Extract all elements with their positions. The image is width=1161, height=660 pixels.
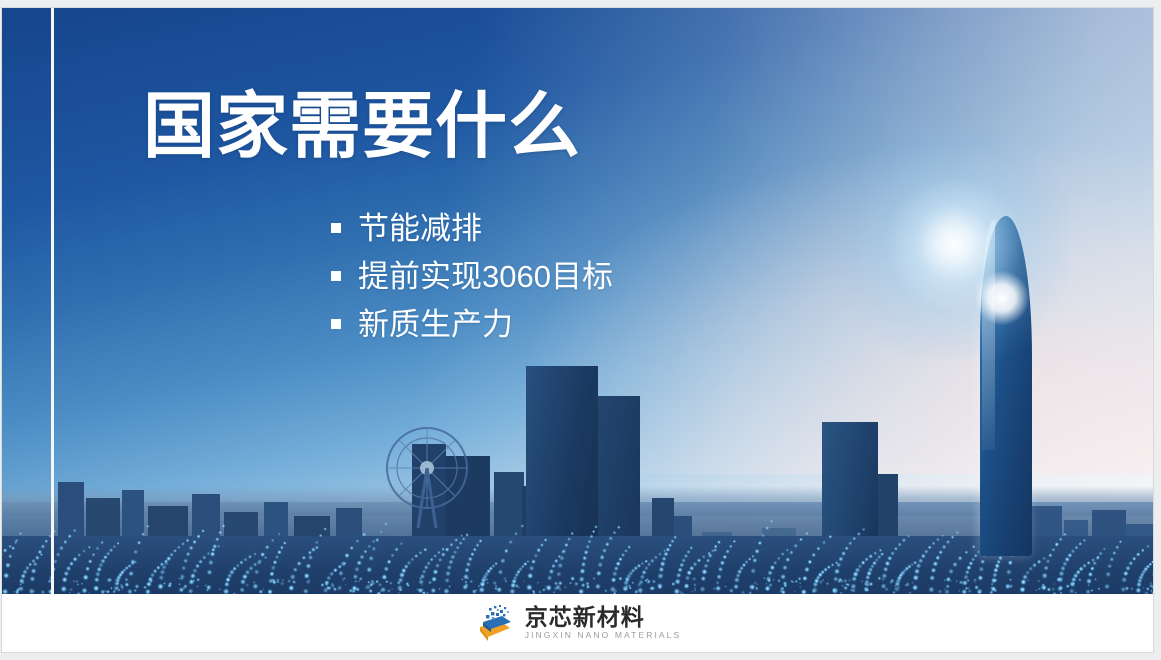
list-item: 提前实现3060目标 bbox=[331, 252, 613, 300]
jingxin-pixel-logo-icon bbox=[474, 603, 516, 643]
bullet-list: 节能减排 提前实现3060目标 新质生产力 bbox=[331, 204, 613, 348]
list-item-label: 提前实现3060目标 bbox=[358, 261, 613, 292]
list-item: 新质生产力 bbox=[331, 300, 613, 348]
footer-bar: 京芯新材料 JINGXIN NANO MATERIALS bbox=[2, 594, 1153, 652]
vertical-white-rule bbox=[51, 8, 54, 594]
square-bullet-icon bbox=[331, 319, 341, 329]
square-bullet-icon bbox=[331, 223, 341, 233]
logo-name-cn: 京芯新材料 bbox=[525, 605, 682, 629]
page-title: 国家需要什么 bbox=[143, 90, 581, 166]
skyscraper-icon bbox=[980, 216, 1032, 556]
slide-canvas: 国家需要什么 节能减排 提前实现3060目标 新质生产力 bbox=[2, 8, 1153, 652]
list-item-label: 新质生产力 bbox=[358, 309, 513, 340]
square-bullet-icon bbox=[331, 271, 341, 281]
slide-frame: 国家需要什么 节能减排 提前实现3060目标 新质生产力 bbox=[0, 0, 1161, 660]
list-item: 节能减排 bbox=[331, 204, 613, 252]
logo-text-block: 京芯新材料 JINGXIN NANO MATERIALS bbox=[525, 605, 682, 640]
hero-background-image: 国家需要什么 节能减排 提前实现3060目标 新质生产力 bbox=[2, 8, 1153, 594]
list-item-label: 节能减排 bbox=[358, 213, 482, 244]
logo-name-en: JINGXIN NANO MATERIALS bbox=[525, 631, 682, 640]
company-logo: 京芯新材料 JINGXIN NANO MATERIALS bbox=[474, 603, 682, 643]
